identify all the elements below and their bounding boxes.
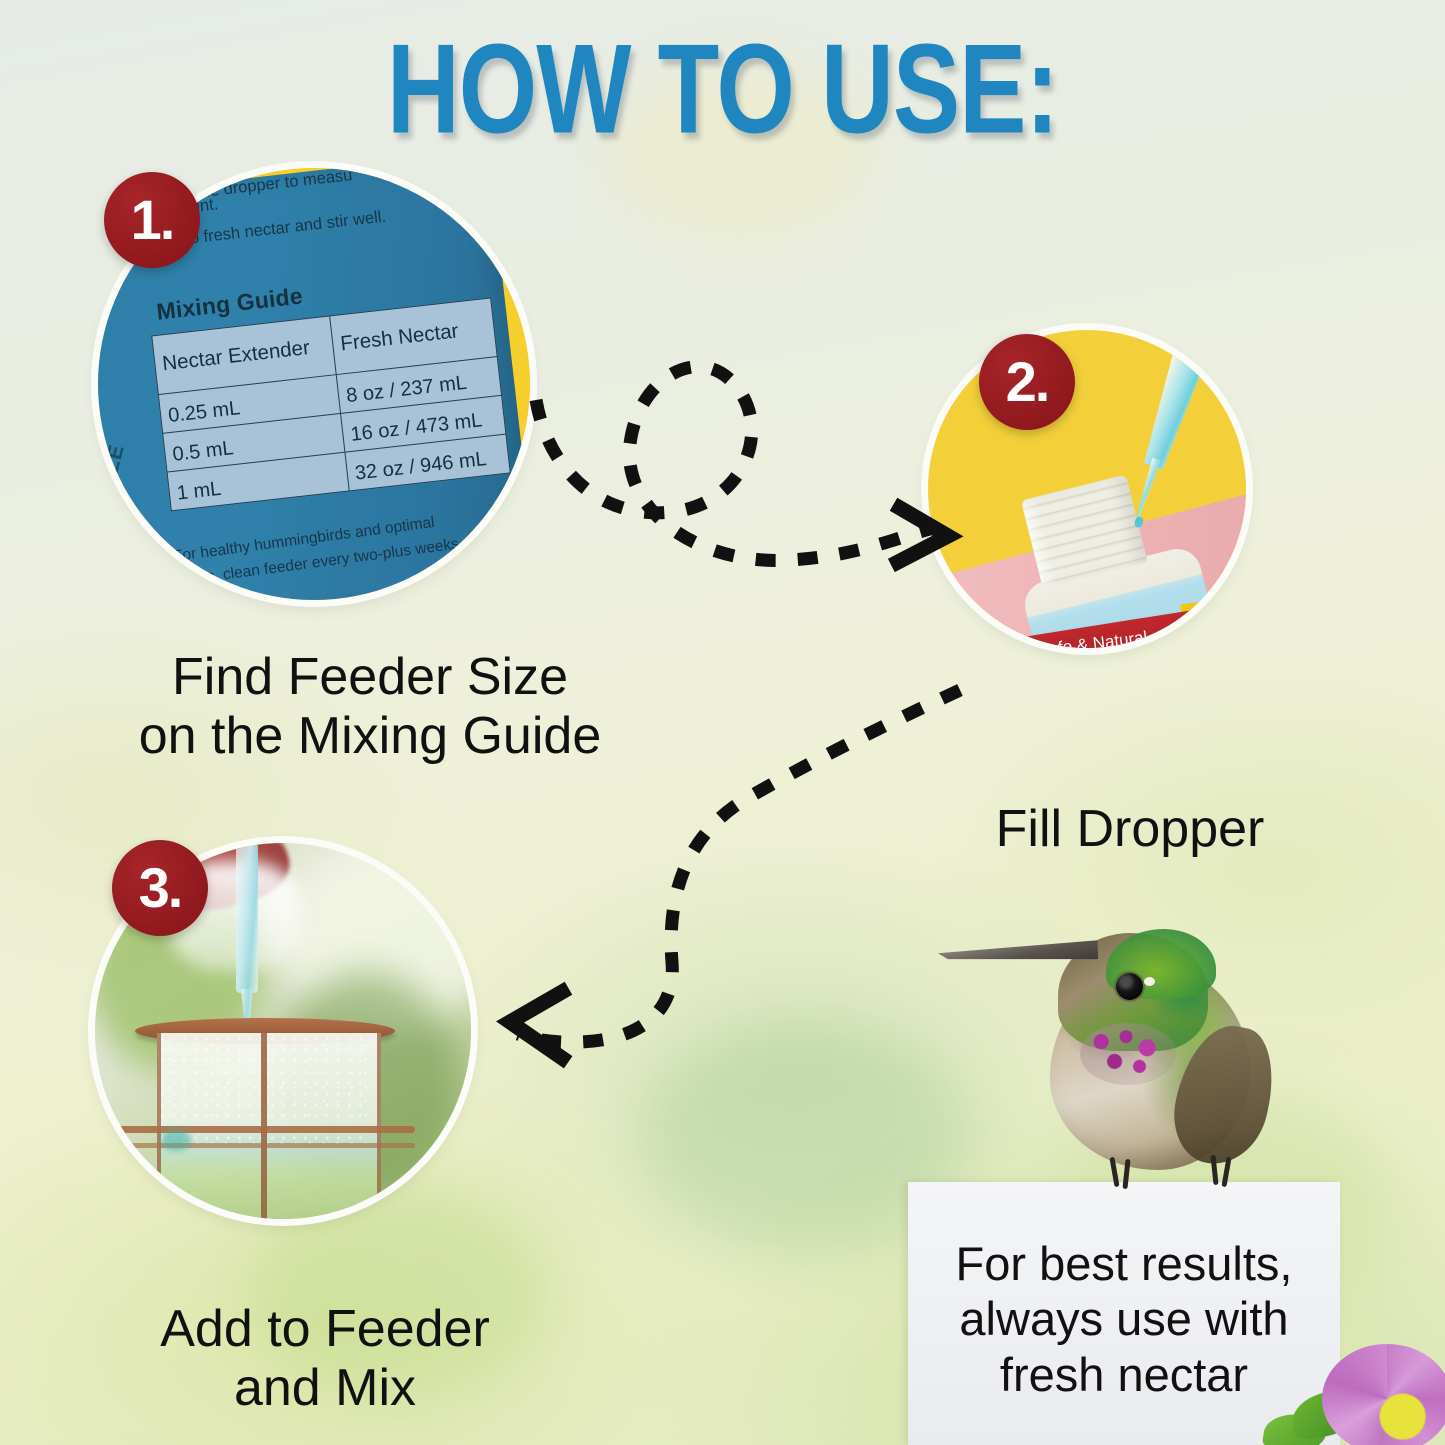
mixing-guide-table: Nectar Extender Fresh Nectar 0.25 mL 8 o… [151,297,511,511]
dashed-arrow-step1-to-step2 [536,367,934,561]
page-title: HOW TO USE: [22,18,1424,163]
step-1-badge: 1. [104,172,200,268]
bird-eye-highlight [1144,977,1155,986]
footer-note-text: For best results, always use with fresh … [908,1236,1340,1402]
step-2-badge: 2. [979,334,1075,430]
bottle-label-size: 60 [1222,639,1241,648]
step-3-badge: 3. [112,840,208,936]
feeder-perch-ring [115,1143,415,1148]
step-3-caption: Add to Feeder and Mix [100,1300,550,1418]
arrowhead-step3 [510,992,562,1058]
infographic-canvas: HOW TO USE: se the dropper to measu moun… [0,0,1445,1445]
pipette-dropper [236,843,258,993]
feeder-perch-ring [115,1126,415,1133]
nectar-bottle: Safe & Natural MMINGBIRD 60 [998,456,1246,648]
nectar-tint [161,1129,191,1151]
hummingbird-illustration [930,905,1320,1205]
step-1-caption: Find Feeder Size on the Mixing Guide [60,648,680,766]
bird-eye [1116,973,1143,1000]
pipette-body [1138,347,1207,472]
bird-gorget [1080,1023,1176,1085]
purple-flower-icon [1322,1344,1445,1445]
mixing-guide-block: Mixing Guide Nectar Extender Fresh Necta… [147,262,511,512]
step-2-photo: Safe & Natural MMINGBIRD 60 [928,330,1246,648]
pipette-tip [1132,458,1161,524]
flower-decoration [1300,1330,1445,1445]
step-2-caption: Fill Dropper [905,800,1355,859]
